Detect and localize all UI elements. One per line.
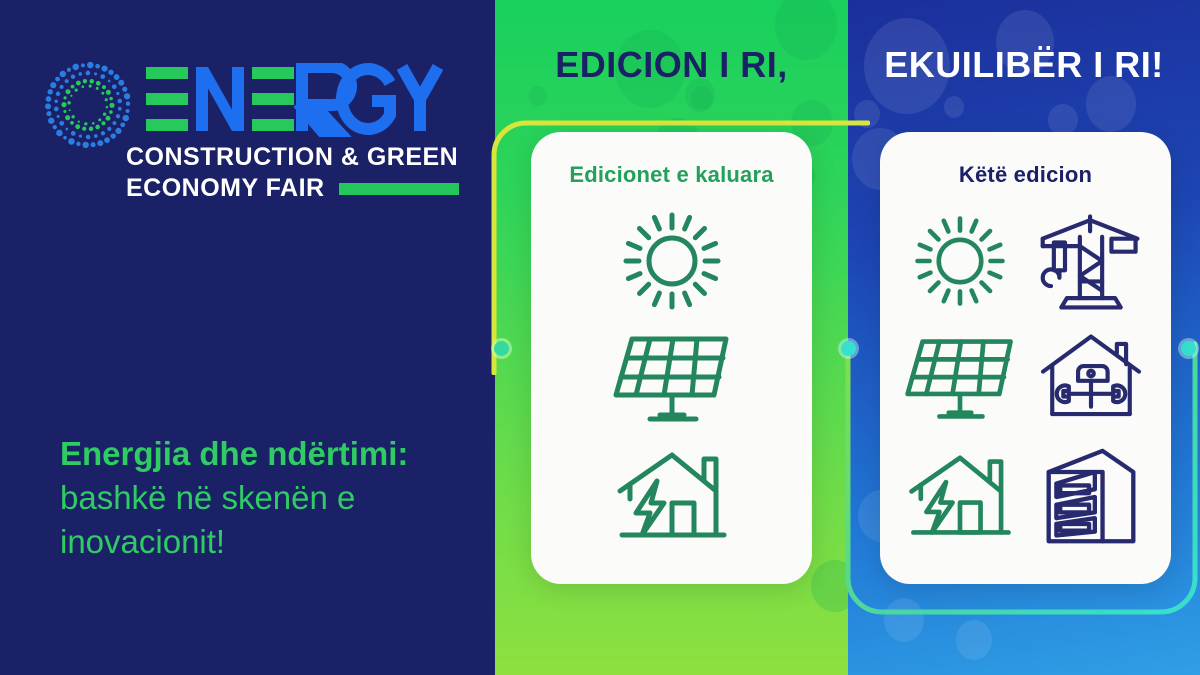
decor-bubble bbox=[944, 96, 964, 118]
decor-bubble bbox=[956, 620, 992, 660]
icon-cell bbox=[531, 202, 812, 320]
decor-bubble bbox=[854, 100, 880, 128]
office-building-icon bbox=[1042, 447, 1140, 547]
icon-cell bbox=[1026, 320, 1158, 438]
crane-icon bbox=[1039, 209, 1143, 313]
logo-green-rule bbox=[339, 183, 459, 195]
headline-current: EKUILIBËR I RI! bbox=[848, 44, 1200, 86]
card-this-edition: Këtë edicion bbox=[880, 132, 1171, 584]
solar-panel-icon bbox=[902, 334, 1018, 424]
brand-panel: CONSTRUCTION & GREEN ECONOMY FAIR Energj… bbox=[0, 0, 495, 675]
sun-icon bbox=[620, 209, 724, 313]
house-energy-icon bbox=[612, 447, 732, 547]
headline-past: EDICION I RI, bbox=[495, 44, 848, 86]
logo-block: CONSTRUCTION & GREEN ECONOMY FAIR bbox=[38, 55, 438, 220]
track-dot-left bbox=[494, 341, 509, 356]
house-energy-icon bbox=[904, 450, 1016, 544]
icon-cell bbox=[531, 438, 812, 556]
icon-grid-current bbox=[880, 202, 1171, 556]
logo-subtitle-row: ECONOMY FAIR bbox=[126, 174, 459, 203]
decor-bubble bbox=[691, 86, 713, 110]
icon-cell bbox=[894, 438, 1026, 556]
tagline: Energjia dhe ndërtimi: bashkë në skenën … bbox=[60, 432, 475, 564]
decor-bubble bbox=[811, 560, 848, 612]
house-tools-icon bbox=[1037, 331, 1145, 427]
logo-subtitle-line1: CONSTRUCTION & GREEN bbox=[126, 143, 458, 172]
icon-cell bbox=[894, 320, 1026, 438]
card-title-current: Këtë edicion bbox=[880, 162, 1171, 188]
tagline-line2: bashkë në skenën e bbox=[60, 476, 475, 520]
card-past-editions: Edicionet e kaluara bbox=[531, 132, 812, 584]
tagline-line1: Energjia dhe ndërtimi: bbox=[60, 432, 475, 476]
icon-cell bbox=[1026, 438, 1158, 556]
tagline-line3: inovacionit! bbox=[60, 520, 475, 564]
energy-wordmark bbox=[146, 63, 446, 137]
solar-panel-icon bbox=[610, 331, 734, 427]
icon-cell bbox=[894, 202, 1026, 320]
icon-grid-past bbox=[531, 202, 812, 556]
decor-bubble bbox=[884, 598, 924, 642]
dotted-ring-logo-icon bbox=[38, 55, 138, 155]
logo-subtitle-line2: ECONOMY FAIR bbox=[126, 174, 325, 203]
banner-canvas: CONSTRUCTION & GREEN ECONOMY FAIR Energj… bbox=[0, 0, 1200, 675]
icon-cell bbox=[1026, 202, 1158, 320]
track-dot-far-right bbox=[1181, 341, 1196, 356]
card-title-past: Edicionet e kaluara bbox=[531, 162, 812, 188]
icon-cell bbox=[531, 320, 812, 438]
decor-bubble bbox=[529, 86, 547, 106]
sun-icon bbox=[912, 213, 1008, 309]
track-dot-right bbox=[841, 341, 856, 356]
